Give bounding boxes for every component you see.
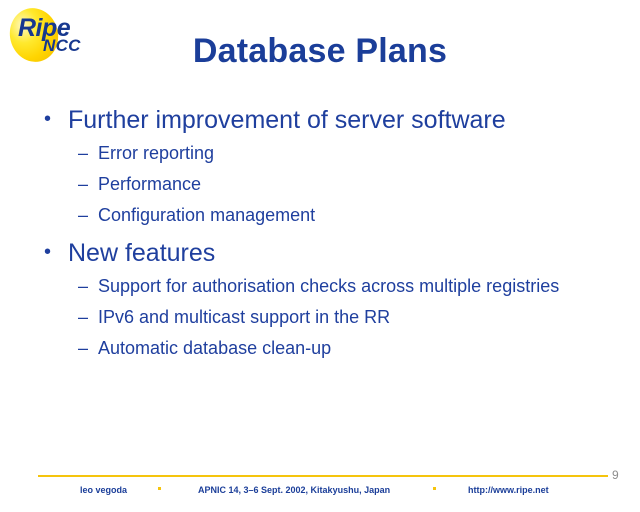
sub-bullet-error-reporting: – Error reporting <box>36 143 616 165</box>
dash-marker-icon: – <box>78 307 88 329</box>
dash-marker-icon: – <box>78 338 88 360</box>
dash-marker-icon: – <box>78 143 88 165</box>
page-number: 9 <box>612 468 619 482</box>
sub-bullet-configuration-management: – Configuration management <box>36 205 616 227</box>
dash-marker-icon: – <box>78 276 88 298</box>
sub-bullet-label: Configuration management <box>98 205 315 225</box>
bullet-label: Further improvement of server software <box>68 106 506 134</box>
footer-separator-dot-icon <box>433 487 436 490</box>
bullet-label: New features <box>68 239 215 267</box>
page-title: Database Plans <box>0 32 640 71</box>
footer-separator-dot-icon <box>158 487 161 490</box>
footer: leo vegoda APNIC 14, 3–6 Sept. 2002, Kit… <box>38 483 608 501</box>
sub-bullet-support-authorisation-checks: – Support for authorisation checks acros… <box>36 276 616 298</box>
sub-bullet-automatic-cleanup: – Automatic database clean-up <box>36 338 616 360</box>
footer-event: APNIC 14, 3–6 Sept. 2002, Kitakyushu, Ja… <box>198 485 390 495</box>
sub-bullet-ipv6-multicast: – IPv6 and multicast support in the RR <box>36 307 616 329</box>
dash-marker-icon: – <box>78 174 88 196</box>
sub-bullet-label: Performance <box>98 174 201 194</box>
footer-author: leo vegoda <box>80 485 127 495</box>
dash-marker-icon: – <box>78 205 88 227</box>
slide-content: • Further improvement of server software… <box>36 106 616 360</box>
sub-bullet-label: Support for authorisation checks across … <box>98 276 559 296</box>
sub-bullet-label: IPv6 and multicast support in the RR <box>98 307 390 327</box>
bullet-item-further-improvement: • Further improvement of server software <box>36 106 616 134</box>
bullet-item-new-features: • New features <box>36 239 616 267</box>
sub-bullet-label: Automatic database clean-up <box>98 338 331 358</box>
section-spacer <box>36 227 616 239</box>
sub-bullet-performance: – Performance <box>36 174 616 196</box>
sub-bullet-label: Error reporting <box>98 143 214 163</box>
footer-divider <box>38 475 608 477</box>
bullet-marker-icon: • <box>44 106 51 133</box>
bullet-marker-icon: • <box>44 239 51 266</box>
footer-url[interactable]: http://www.ripe.net <box>468 485 549 495</box>
